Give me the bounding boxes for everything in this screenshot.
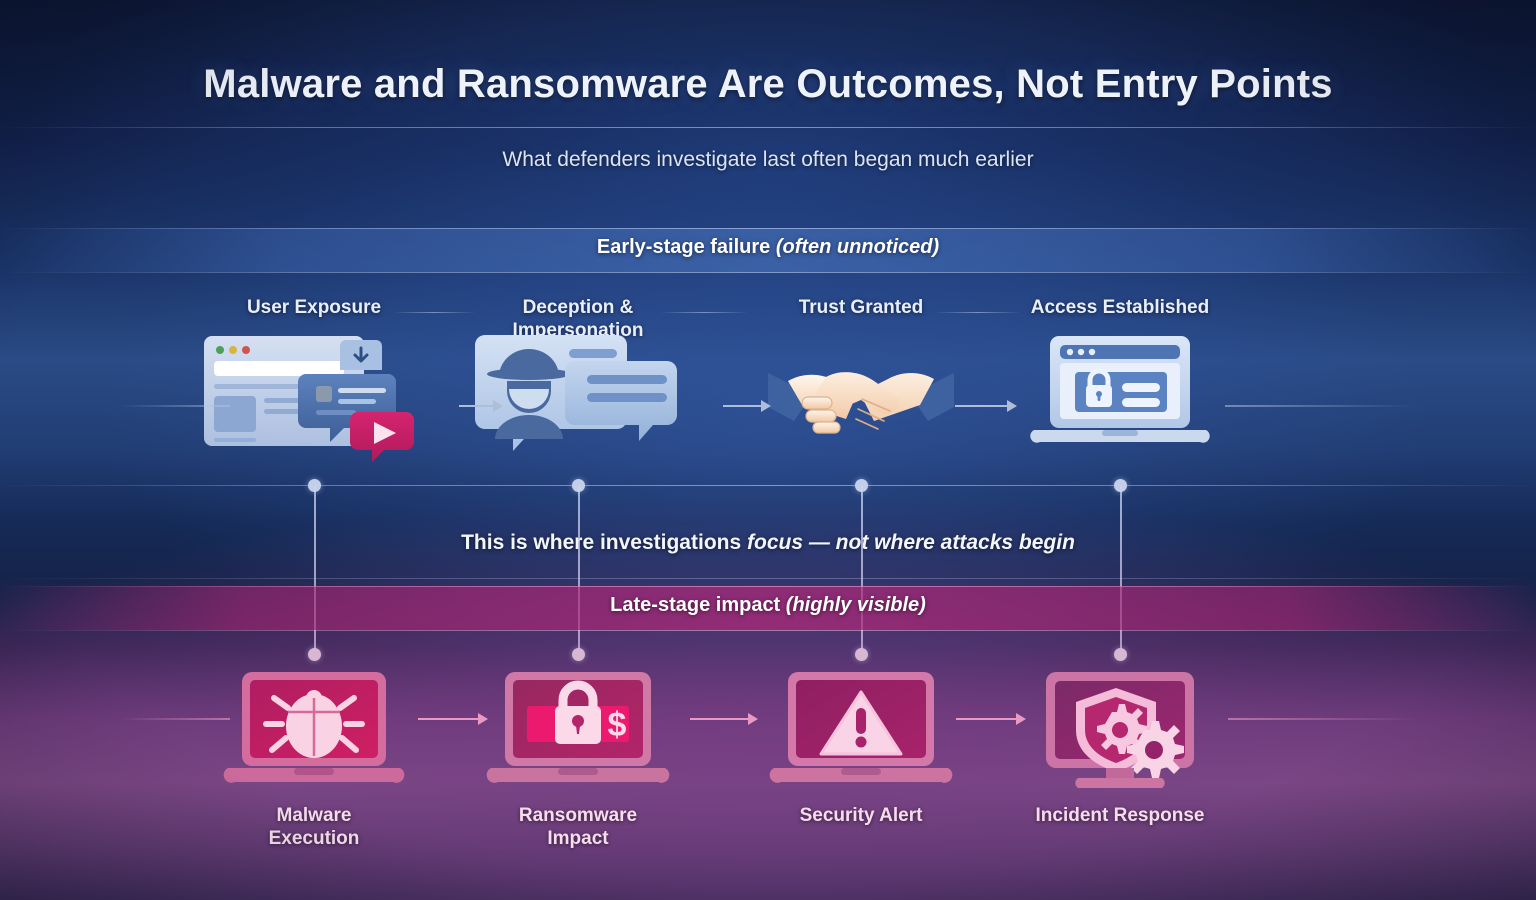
stage-label-line2: Impact: [547, 828, 608, 849]
stage-card-incident-response[interactable]: Incident Response: [1005, 664, 1235, 827]
flow-arrow-bottom-1: [418, 718, 488, 720]
flow-arrow-bottom-3: [956, 718, 1026, 720]
stage-label-line1: Ransomware: [519, 805, 637, 826]
stage-label-malware-execution: Malware Execution: [199, 804, 429, 850]
infographic-canvas: Malware and Ransomware Are Outcomes, Not…: [0, 0, 1536, 900]
flow-arrow-bottom-2: [690, 718, 758, 720]
stage-label-security-alert: Security Alert: [746, 804, 976, 827]
stage-card-malware-execution[interactable]: Malware Execution: [199, 664, 429, 850]
stage-label-incident-response: Incident Response: [1005, 804, 1235, 827]
monitor-shield-gears-icon: [1005, 664, 1235, 794]
side-rail-bottom-right: [1228, 718, 1418, 720]
stage-card-ransomware-impact[interactable]: $ Ransomware Impact: [463, 664, 693, 850]
side-rail-bottom-left: [120, 718, 230, 720]
late-stage-row: Malware Execution: [0, 0, 1536, 900]
laptop-bug-icon: [199, 664, 429, 794]
stage-card-security-alert[interactable]: Security Alert: [746, 664, 976, 827]
svg-text:$: $: [608, 706, 627, 744]
stage-label-ransomware-impact: Ransomware Impact: [463, 804, 693, 850]
stage-label-line1: Malware: [277, 805, 352, 826]
laptop-padlock-dollar-icon: $: [463, 664, 693, 794]
stage-label-line2: Execution: [269, 828, 360, 849]
laptop-warning-triangle-icon: [746, 664, 976, 794]
